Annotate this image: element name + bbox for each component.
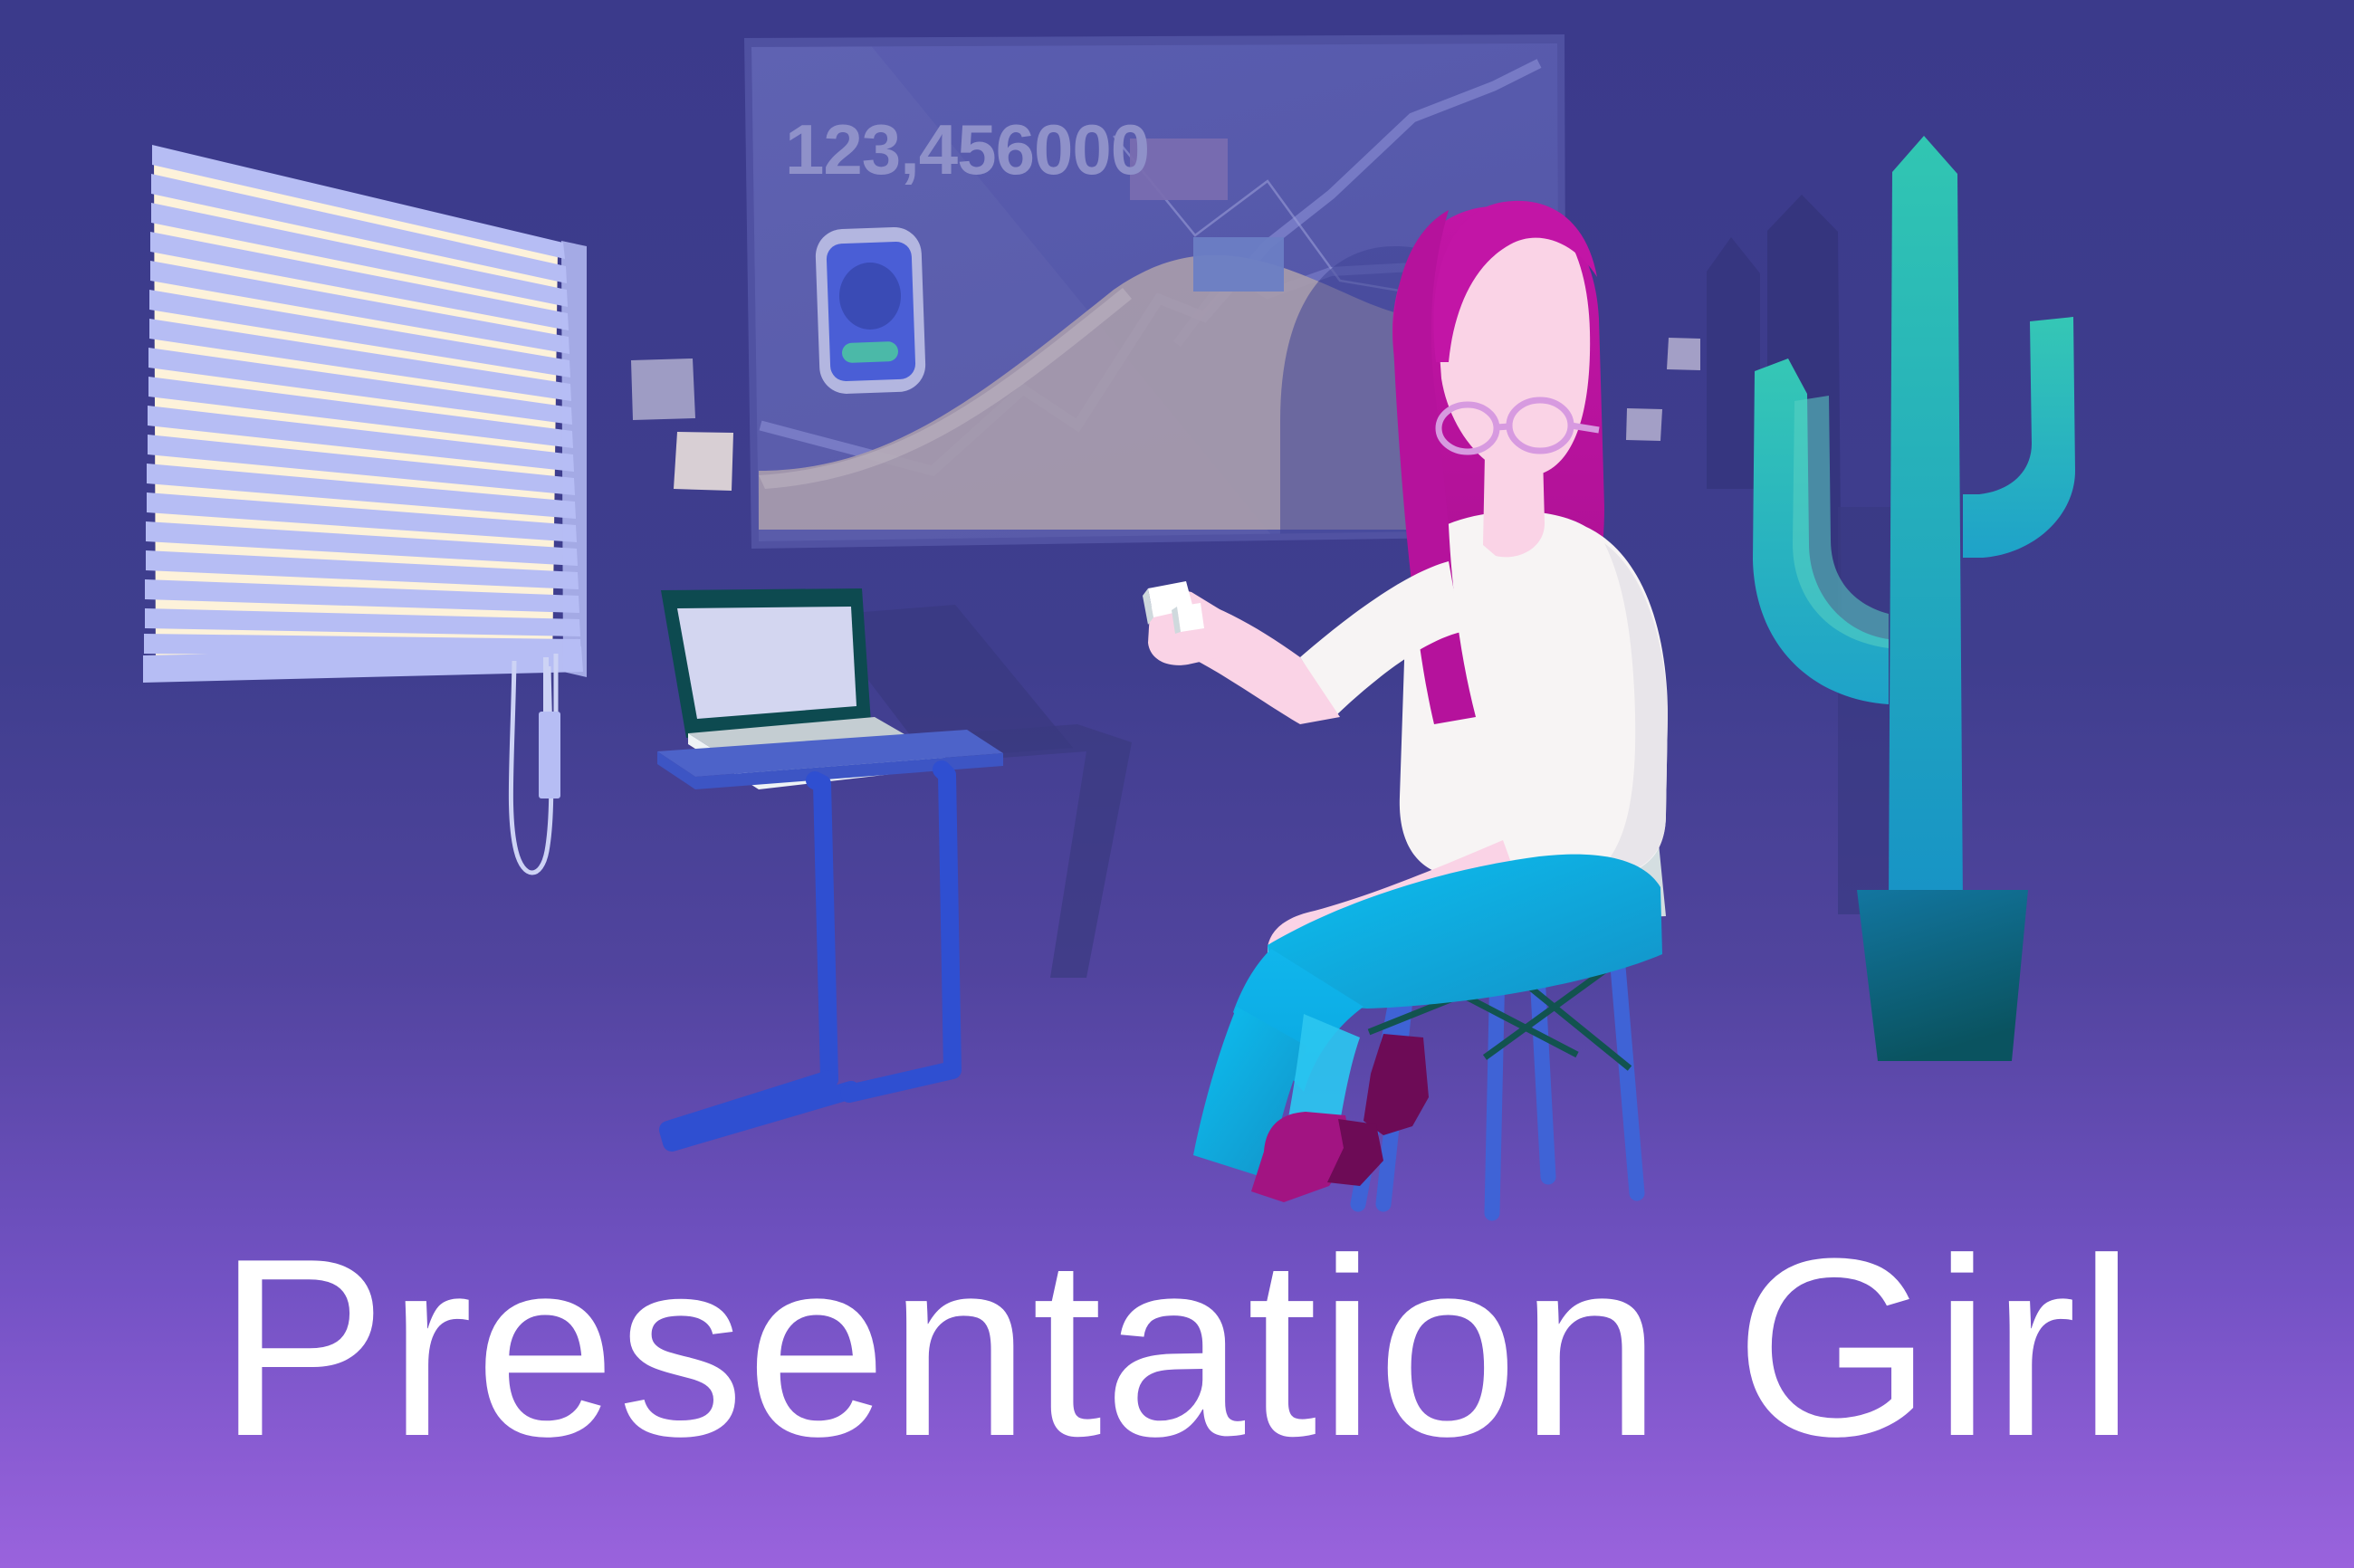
blinds-wand[interactable] xyxy=(539,712,560,798)
illustration-canvas: 123,456000 xyxy=(0,0,2354,1568)
square-left-upper xyxy=(631,359,695,420)
screen-tag-2 xyxy=(1193,237,1284,292)
screen-metric-value: 123,456000 xyxy=(785,110,1149,189)
square-right-lower xyxy=(1626,408,1662,441)
page-title: Presentation Girl xyxy=(217,1207,2136,1489)
square-right-upper xyxy=(1667,338,1700,370)
laptop-screen xyxy=(677,607,856,719)
cactus-pot xyxy=(1857,890,2028,1061)
blinds-right-edge xyxy=(561,241,587,677)
square-left-lower xyxy=(674,432,733,491)
cactus-trunk xyxy=(1889,136,1963,905)
cactus-shadow-right xyxy=(1707,237,1760,489)
phone-icon xyxy=(815,226,926,395)
